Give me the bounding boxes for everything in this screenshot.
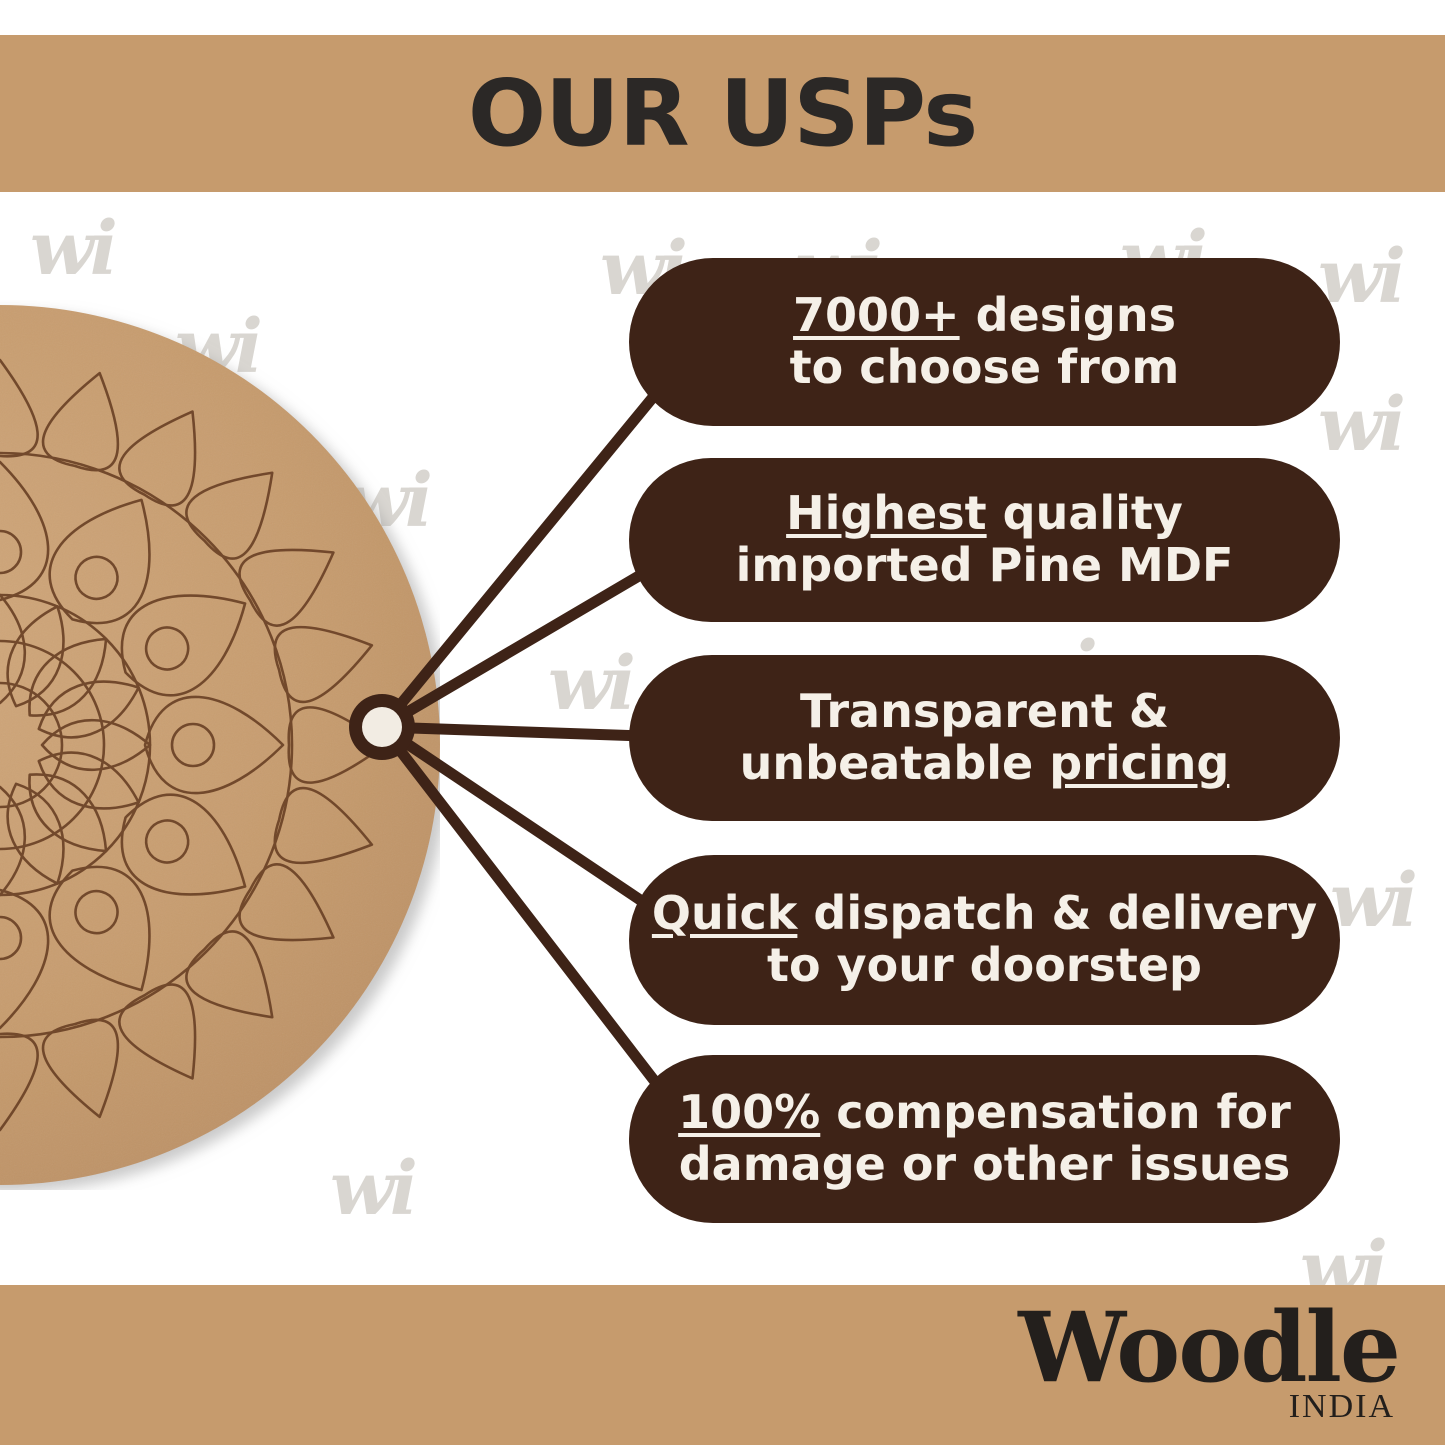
brand-wordmark: Woodle bbox=[1018, 1304, 1399, 1392]
usp-pill-compensation[interactable]: 100% compensation for damage or other is… bbox=[629, 1055, 1340, 1223]
usp-emphasis: Quick bbox=[652, 886, 797, 940]
usp-emphasis: 7000+ bbox=[793, 288, 960, 342]
usp-pill-pricing[interactable]: Transparent & unbeatable pricing bbox=[629, 655, 1340, 821]
usp-line-1: Highest quality bbox=[786, 488, 1183, 540]
brand-logo: Woodle INDIA bbox=[979, 1300, 1399, 1430]
usp-emphasis: 100% bbox=[678, 1085, 820, 1139]
usp-line-2: imported Pine MDF bbox=[736, 540, 1234, 592]
brand-subtitle: INDIA bbox=[1289, 1388, 1395, 1426]
usp-line-1: Quick dispatch & delivery bbox=[652, 888, 1317, 940]
usp-line-1: Transparent & bbox=[800, 686, 1169, 738]
usp-line-2: damage or other issues bbox=[679, 1139, 1290, 1191]
usp-pill-designs[interactable]: 7000+ designs to choose from bbox=[629, 258, 1340, 426]
usp-emphasis: Highest bbox=[786, 486, 987, 540]
usp-line-2: to your doorstep bbox=[767, 940, 1202, 992]
usp-emphasis: pricing bbox=[1049, 736, 1229, 790]
usp-line-2: unbeatable pricing bbox=[740, 738, 1230, 790]
usp-line-1: 7000+ designs bbox=[793, 290, 1176, 342]
infographic-canvas: OUR USPs wiwiwiwiwiwiwiwiwiwiwiwiwiwi bbox=[0, 0, 1445, 1445]
page-title: OUR USPs bbox=[0, 35, 1445, 192]
usp-pill-dispatch[interactable]: Quick dispatch & delivery to your doorst… bbox=[629, 855, 1340, 1025]
usp-line-1: 100% compensation for bbox=[678, 1087, 1291, 1139]
usp-pill-quality[interactable]: Highest quality imported Pine MDF bbox=[629, 458, 1340, 622]
usp-line-2: to choose from bbox=[790, 342, 1180, 394]
